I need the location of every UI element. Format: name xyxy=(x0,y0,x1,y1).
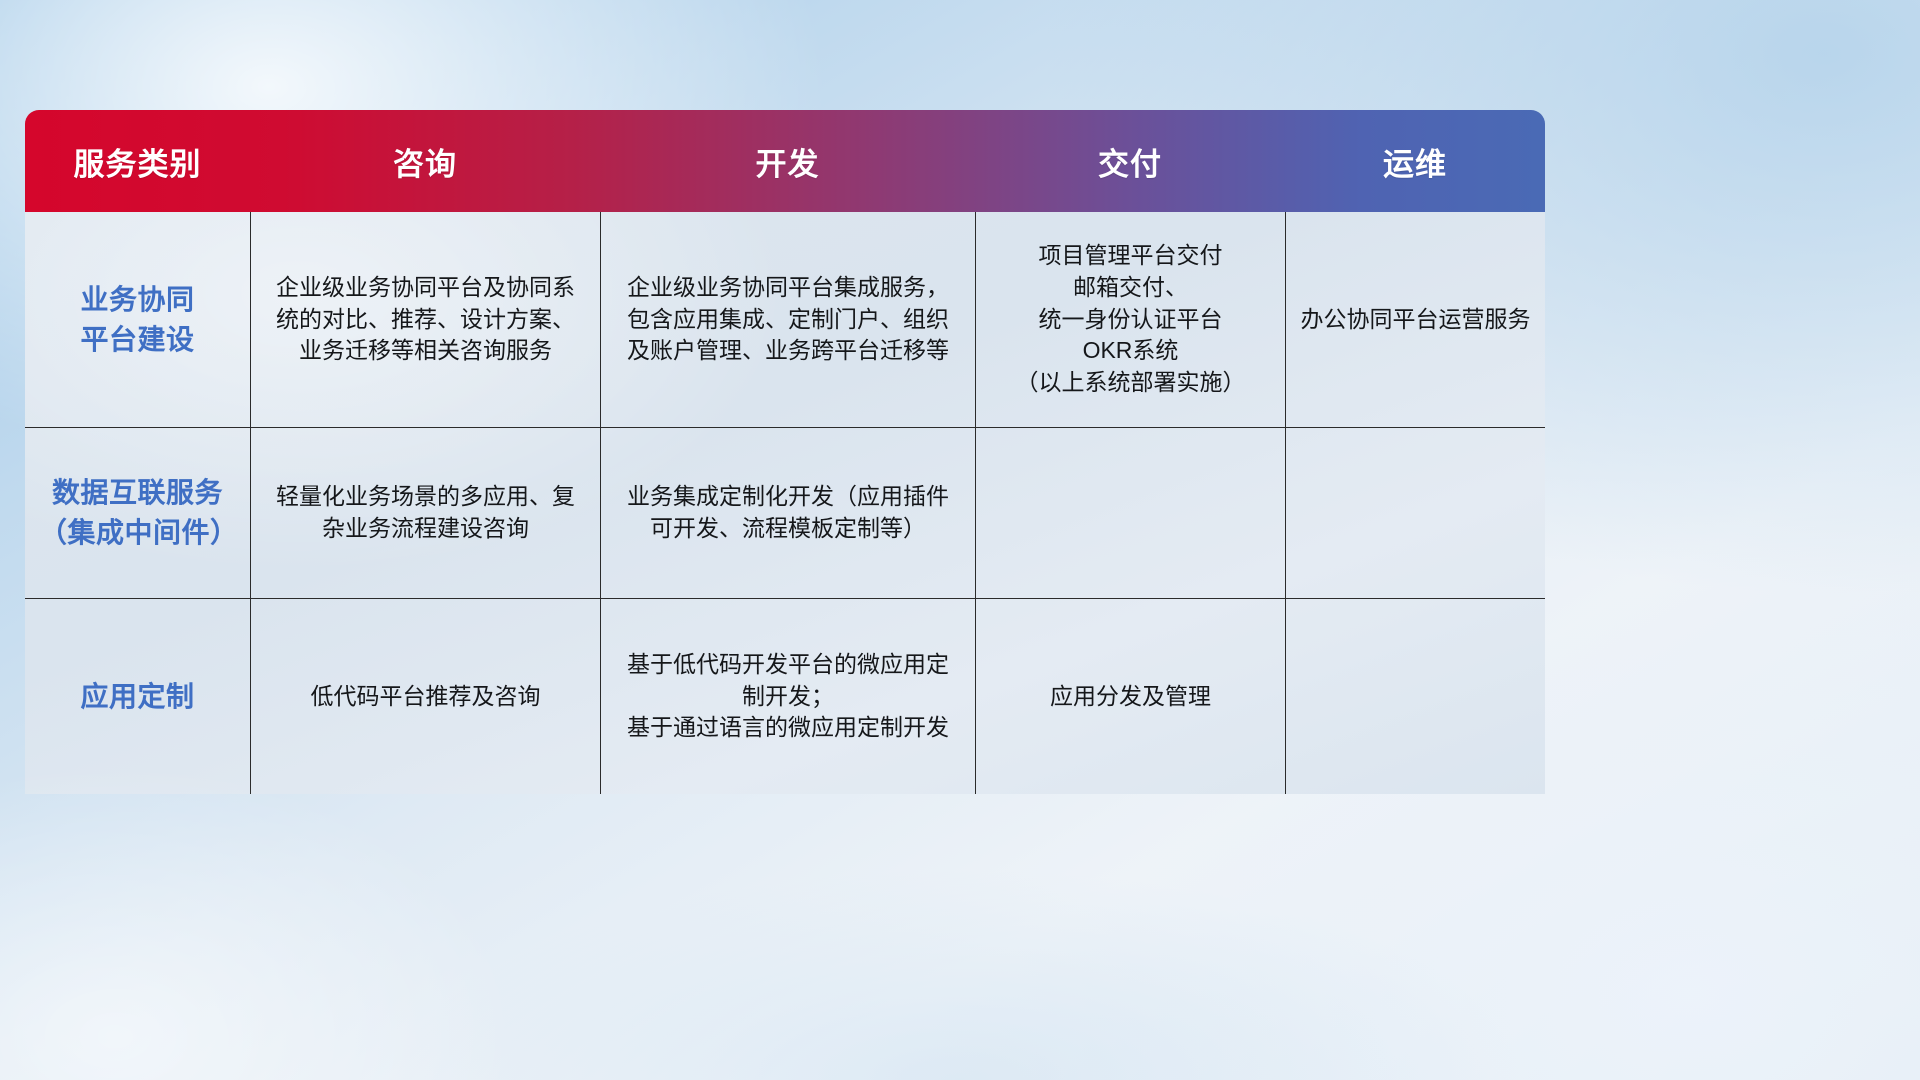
table-row: 业务协同 平台建设 企业级业务协同平台及协同系 统的对比、推荐、设计方案、 业务… xyxy=(25,212,1545,427)
column-header-operations: 运维 xyxy=(1285,110,1545,212)
table-row: 应用定制 低代码平台推荐及咨询 基于低代码开发平台的微应用定 制开发； 基于通过… xyxy=(25,598,1545,794)
cell-development: 业务集成定制化开发（应用插件 可开发、流程模板定制等） xyxy=(600,428,975,598)
cell-operations xyxy=(1285,599,1545,794)
cell-delivery xyxy=(975,428,1285,598)
column-header-consulting: 咨询 xyxy=(250,110,600,212)
table-header-row: 服务类别 咨询 开发 交付 运维 xyxy=(25,110,1545,212)
cell-consulting: 企业级业务协同平台及协同系 统的对比、推荐、设计方案、 业务迁移等相关咨询服务 xyxy=(250,212,600,427)
slide-canvas: 服务类别 咨询 开发 交付 运维 业务协同 平台建设 企业级业务协同平台及协同系… xyxy=(0,0,1920,1080)
cell-consulting: 低代码平台推荐及咨询 xyxy=(250,599,600,794)
column-header-development: 开发 xyxy=(600,110,975,212)
cell-operations: 办公协同平台运营服务 xyxy=(1285,212,1545,427)
service-matrix-table: 服务类别 咨询 开发 交付 运维 业务协同 平台建设 企业级业务协同平台及协同系… xyxy=(25,110,1545,794)
cell-operations xyxy=(1285,428,1545,598)
table-row: 数据互联服务 （集成中间件） 轻量化业务场景的多应用、复 杂业务流程建设咨询 业… xyxy=(25,427,1545,598)
column-header-category: 服务类别 xyxy=(25,110,250,212)
cell-development: 企业级业务协同平台集成服务， 包含应用集成、定制门户、组织 及账户管理、业务跨平… xyxy=(600,212,975,427)
cell-delivery: 应用分发及管理 xyxy=(975,599,1285,794)
row-category-label: 业务协同 平台建设 xyxy=(25,212,250,427)
cell-consulting: 轻量化业务场景的多应用、复 杂业务流程建设咨询 xyxy=(250,428,600,598)
row-category-label: 数据互联服务 （集成中间件） xyxy=(25,428,250,598)
row-category-label: 应用定制 xyxy=(25,599,250,794)
table-body: 业务协同 平台建设 企业级业务协同平台及协同系 统的对比、推荐、设计方案、 业务… xyxy=(25,212,1545,794)
cell-development: 基于低代码开发平台的微应用定 制开发； 基于通过语言的微应用定制开发 xyxy=(600,599,975,794)
column-header-delivery: 交付 xyxy=(975,110,1285,212)
cell-delivery: 项目管理平台交付 邮箱交付、 统一身份认证平台 OKR系统 （以上系统部署实施） xyxy=(975,212,1285,427)
